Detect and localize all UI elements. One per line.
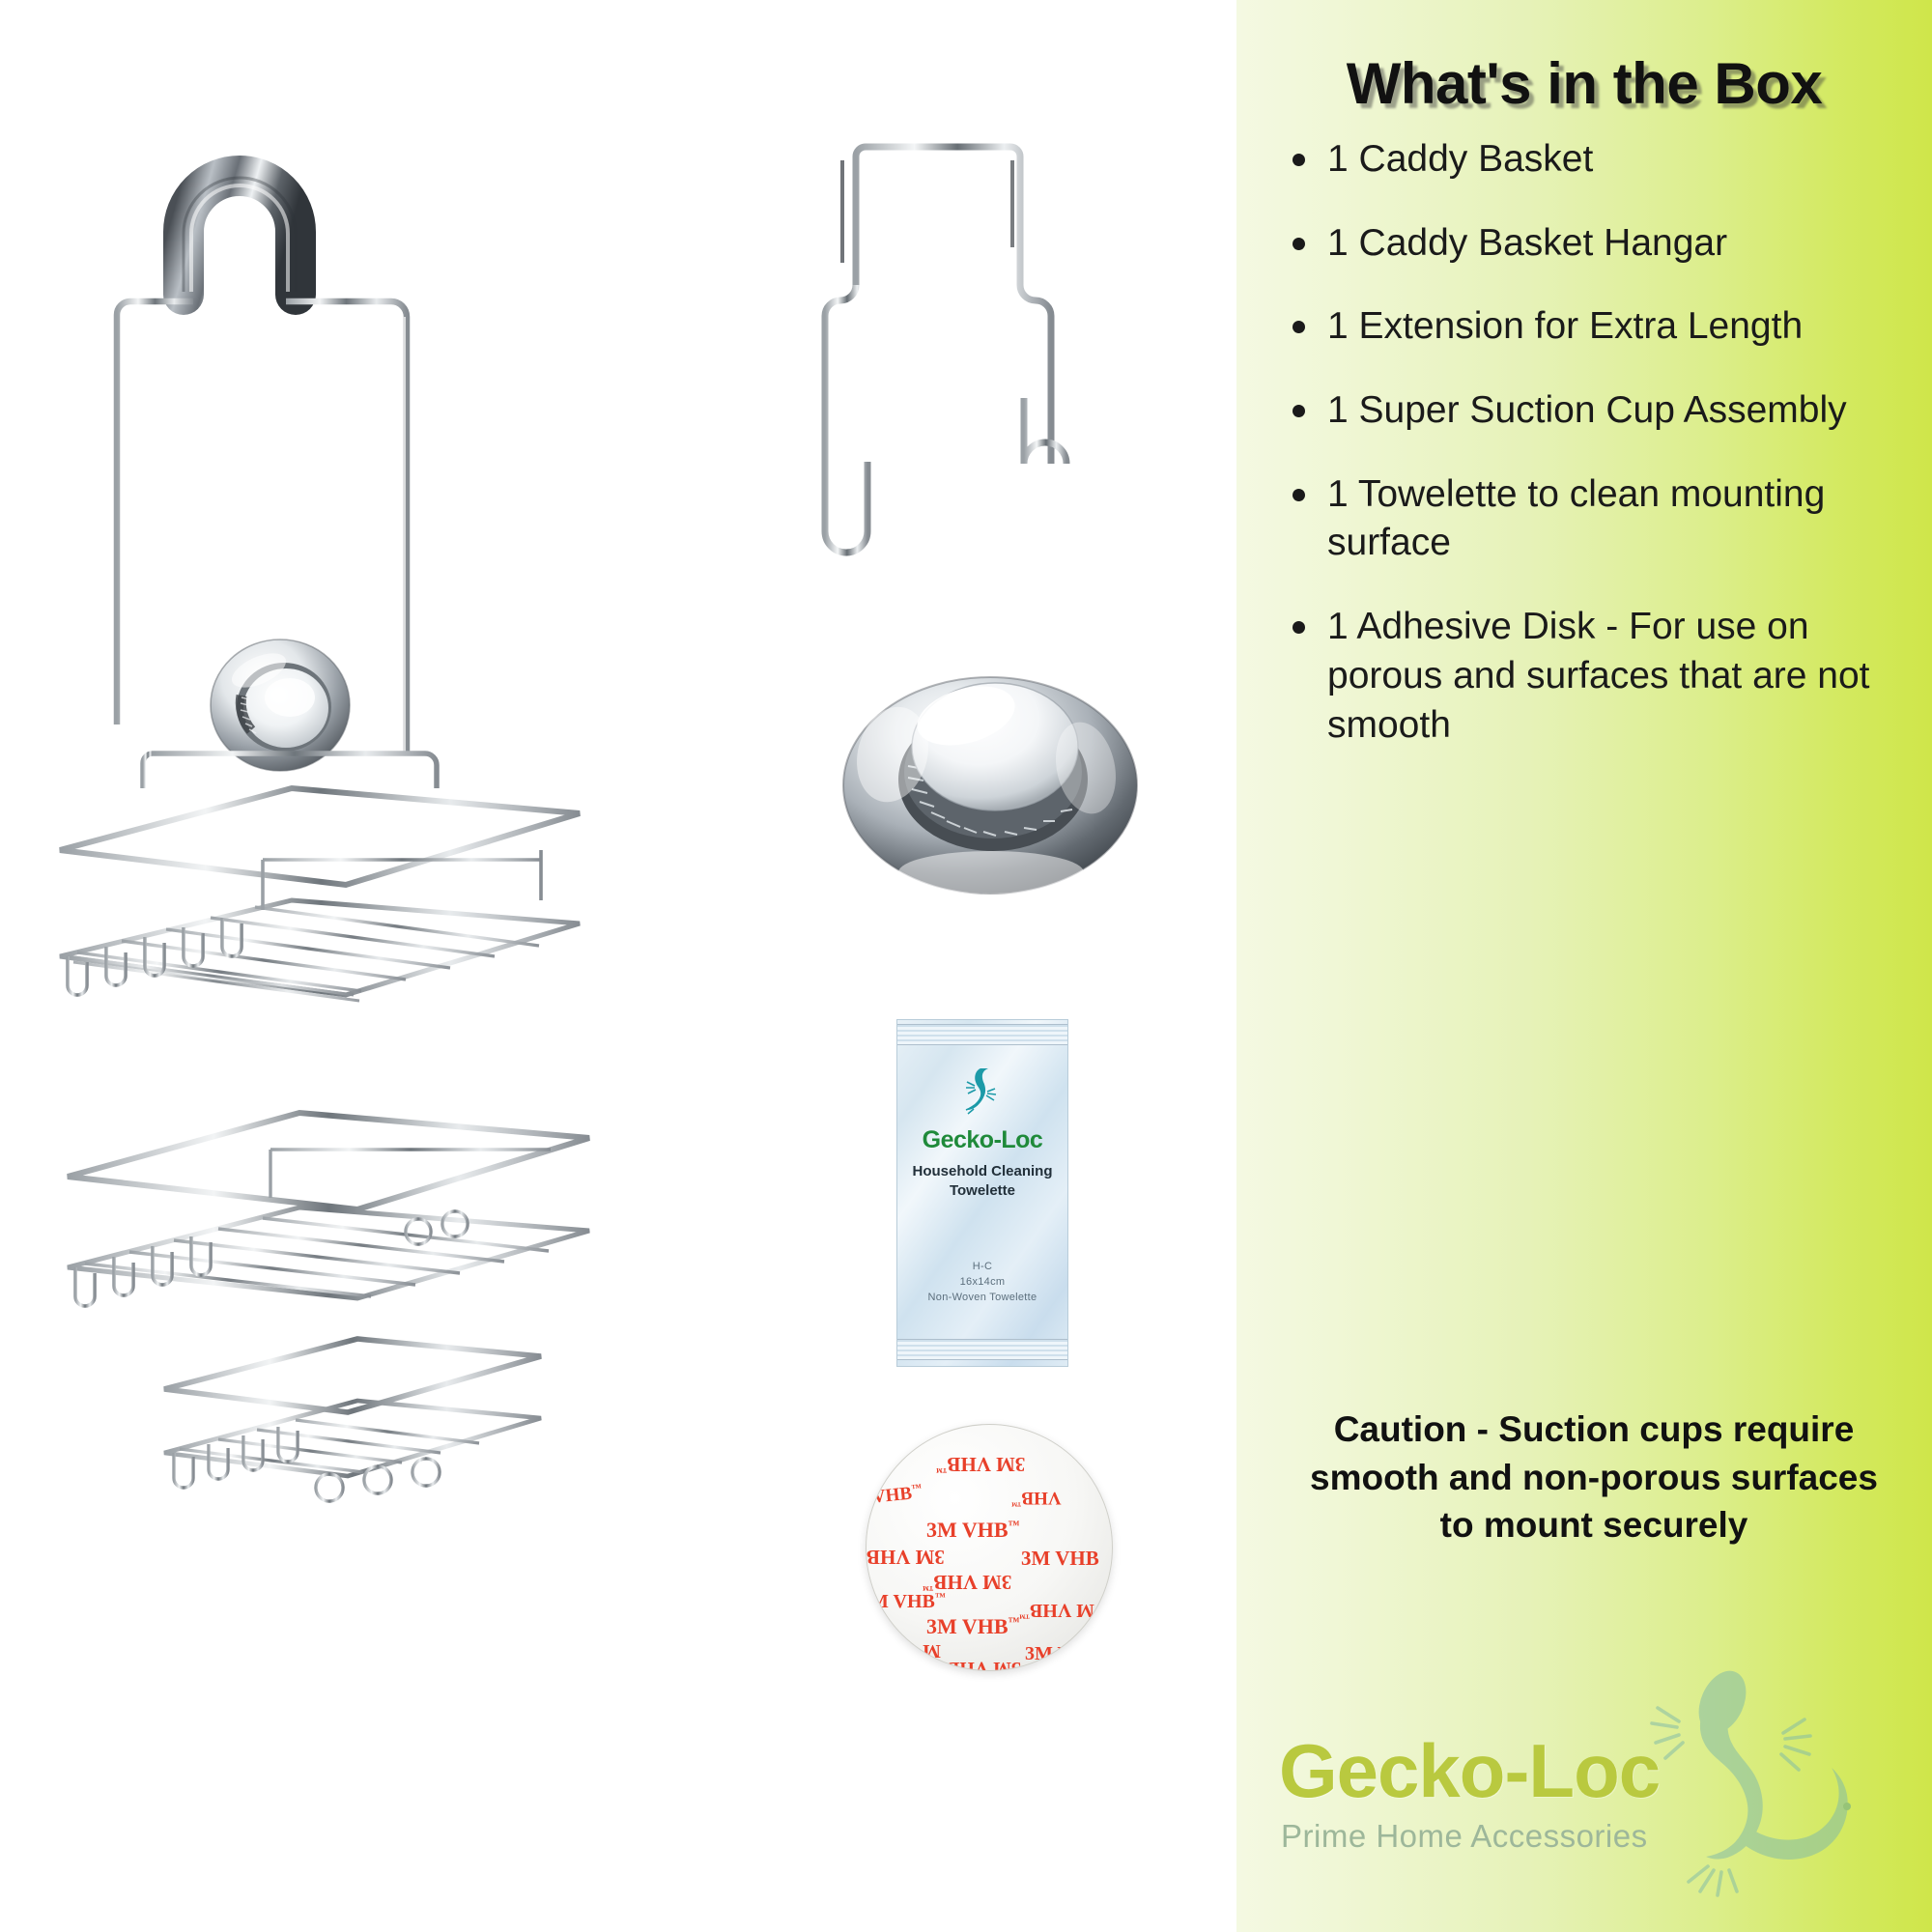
caution-note: Caution - Suction cups require smooth an…	[1293, 1406, 1895, 1549]
brand-logo: Gecko-Loc Prime Home Accessories	[1254, 1671, 1930, 1913]
list-item: 1 Caddy Basket	[1281, 135, 1907, 185]
spec-size: 16x14cm	[897, 1275, 1067, 1291]
product-photo-panel: Gecko-Loc Household Cleaning Towelette H…	[0, 0, 1236, 1932]
spec-code: H-C	[897, 1260, 1067, 1275]
list-item: 1 Extension for Extra Length	[1281, 302, 1907, 352]
brand-tagline: Prime Home Accessories	[1254, 1818, 1756, 1855]
list-item: 1 Towelette to clean mounting surface	[1281, 470, 1907, 568]
list-item: 1 Super Suction Cup Assembly	[1281, 386, 1907, 436]
super-suction-cup-assembly	[831, 633, 1150, 903]
3m-vhb-adhesive-disk: 3M VHB™ VHB™ VHB™ 3M VHB™ 3M VHB 3M VHB …	[850, 1410, 1130, 1700]
brand-name: Gecko-Loc	[1254, 1727, 1756, 1815]
spec-material: Non-Woven Towelette	[897, 1291, 1067, 1306]
towelette-brand: Gecko-Loc	[897, 1126, 1067, 1154]
pack-crimp-top	[897, 1024, 1067, 1045]
whats-in-the-box-panel: What's in the Box 1 Caddy Basket 1 Caddy…	[1236, 0, 1932, 1932]
disk-face: 3M VHB™ VHB™ VHB™ 3M VHB™ 3M VHB 3M VHB …	[866, 1424, 1113, 1671]
cleaning-towelette-packet: Gecko-Loc Household Cleaning Towelette H…	[887, 1019, 1080, 1367]
list-item: 1 Caddy Basket Hangar	[1281, 219, 1907, 269]
towelette-spec: H-C 16x14cm Non-Woven Towelette	[897, 1260, 1067, 1306]
page-title: What's in the Box	[1236, 50, 1932, 117]
list-item: 1 Adhesive Disk - For use on porous and …	[1281, 603, 1907, 750]
shower-caddy-basket	[39, 87, 638, 1768]
gecko-icon	[953, 1065, 1011, 1124]
extension-bar	[811, 116, 1140, 580]
towelette-description: Household Cleaning Towelette	[897, 1162, 1067, 1202]
towelette-pack-body: Gecko-Loc Household Cleaning Towelette H…	[896, 1019, 1068, 1367]
pack-crimp-bottom	[897, 1339, 1067, 1360]
box-contents-list: 1 Caddy Basket 1 Caddy Basket Hangar 1 E…	[1281, 135, 1907, 784]
